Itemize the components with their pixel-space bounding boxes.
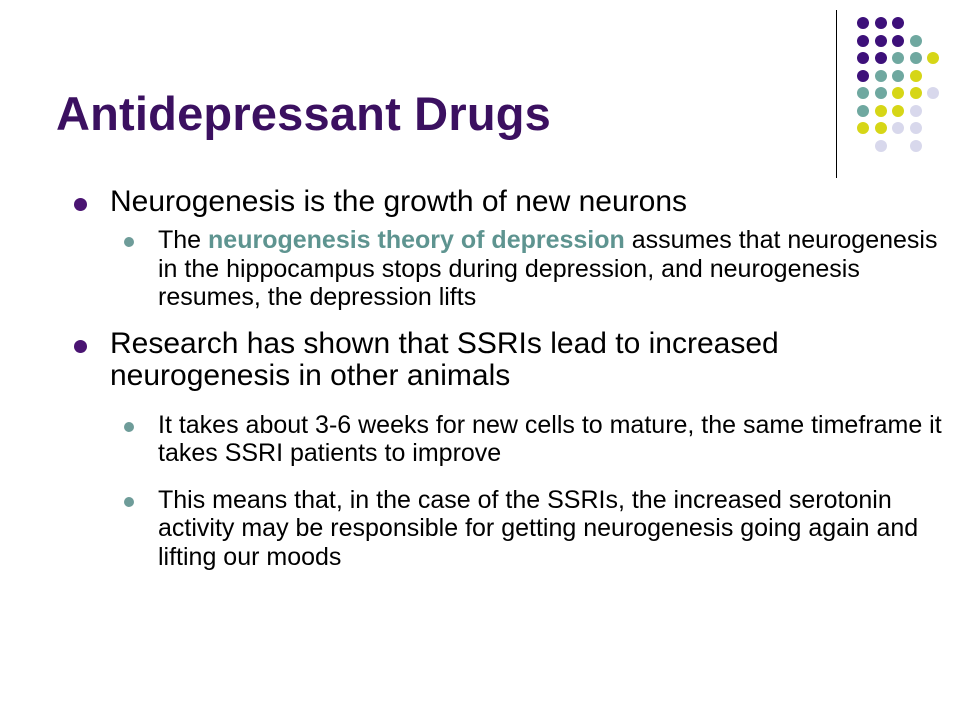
slide: Antidepressant Drugs Neurogenesis is the…	[0, 0, 960, 720]
decorative-dot-purple	[875, 52, 887, 64]
highlighted-phrase: neurogenesis theory of depression	[208, 226, 625, 254]
bullet-marker-purple	[74, 340, 87, 353]
decorative-dot-yellow	[910, 70, 922, 82]
bullet-item-level2: The neurogenesis theory of depression as…	[110, 226, 942, 312]
decorative-dot-purple	[857, 17, 869, 29]
decorative-dot-yellow	[927, 52, 939, 64]
decorative-dot-yellow	[892, 87, 904, 99]
decorative-dot-yellow	[910, 87, 922, 99]
decorative-dot-teal	[875, 70, 887, 82]
decorative-dot-teal	[857, 87, 869, 99]
decorative-dot-lavender	[910, 122, 922, 134]
bullet-marker-teal	[124, 422, 134, 432]
bullet-list: Neurogenesis is the growth of new neuron…	[62, 186, 942, 571]
page-title: Antidepressant Drugs	[56, 86, 551, 141]
bullet-item-level1: Research has shown that SSRIs lead to in…	[62, 328, 942, 393]
decorative-dot-teal	[892, 52, 904, 64]
decorative-dot-yellow	[875, 122, 887, 134]
decorative-dot-yellow	[875, 105, 887, 117]
decorative-dot-lavender	[875, 140, 887, 152]
decorative-dot-yellow	[857, 122, 869, 134]
decorative-dot-purple	[875, 17, 887, 29]
decorative-dot-purple	[875, 35, 887, 47]
decorative-dot-yellow	[892, 105, 904, 117]
bullet-item-level1: Neurogenesis is the growth of new neuron…	[62, 186, 942, 218]
decorative-dot-purple	[892, 17, 904, 29]
bullet-text: It takes about 3-6 weeks for new cells t…	[158, 411, 942, 468]
decorative-dot-lavender	[927, 87, 939, 99]
decorative-dot-lavender	[910, 105, 922, 117]
decorative-dot-teal	[857, 105, 869, 117]
spacer	[62, 312, 942, 328]
decorative-dot-teal	[875, 87, 887, 99]
decorative-dot-purple	[857, 70, 869, 82]
decorative-dot-purple	[892, 35, 904, 47]
decorative-dot-purple	[857, 52, 869, 64]
decorative-dot-lavender	[892, 122, 904, 134]
bullet-text: Neurogenesis is the growth of new neuron…	[110, 185, 687, 218]
decorative-dot-lavender	[910, 140, 922, 152]
decorative-dot-grid	[820, 0, 960, 190]
decorative-dot-teal	[910, 52, 922, 64]
bullet-marker-purple	[74, 198, 87, 211]
decorative-dot-teal	[910, 35, 922, 47]
decorative-dot-teal	[892, 70, 904, 82]
bullet-text-before: The	[158, 226, 208, 254]
spacer	[62, 395, 942, 411]
spacer	[62, 468, 942, 486]
bullet-marker-teal	[124, 497, 134, 507]
bullet-marker-teal	[124, 237, 134, 247]
bullet-text: This means that, in the case of the SSRI…	[158, 486, 918, 571]
bullet-item-level2: This means that, in the case of the SSRI…	[110, 486, 942, 572]
decorative-dot-purple	[857, 35, 869, 47]
vertical-divider-line	[836, 10, 837, 178]
bullet-text: Research has shown that SSRIs lead to in…	[110, 327, 779, 392]
bullet-item-level2: It takes about 3-6 weeks for new cells t…	[110, 411, 942, 468]
